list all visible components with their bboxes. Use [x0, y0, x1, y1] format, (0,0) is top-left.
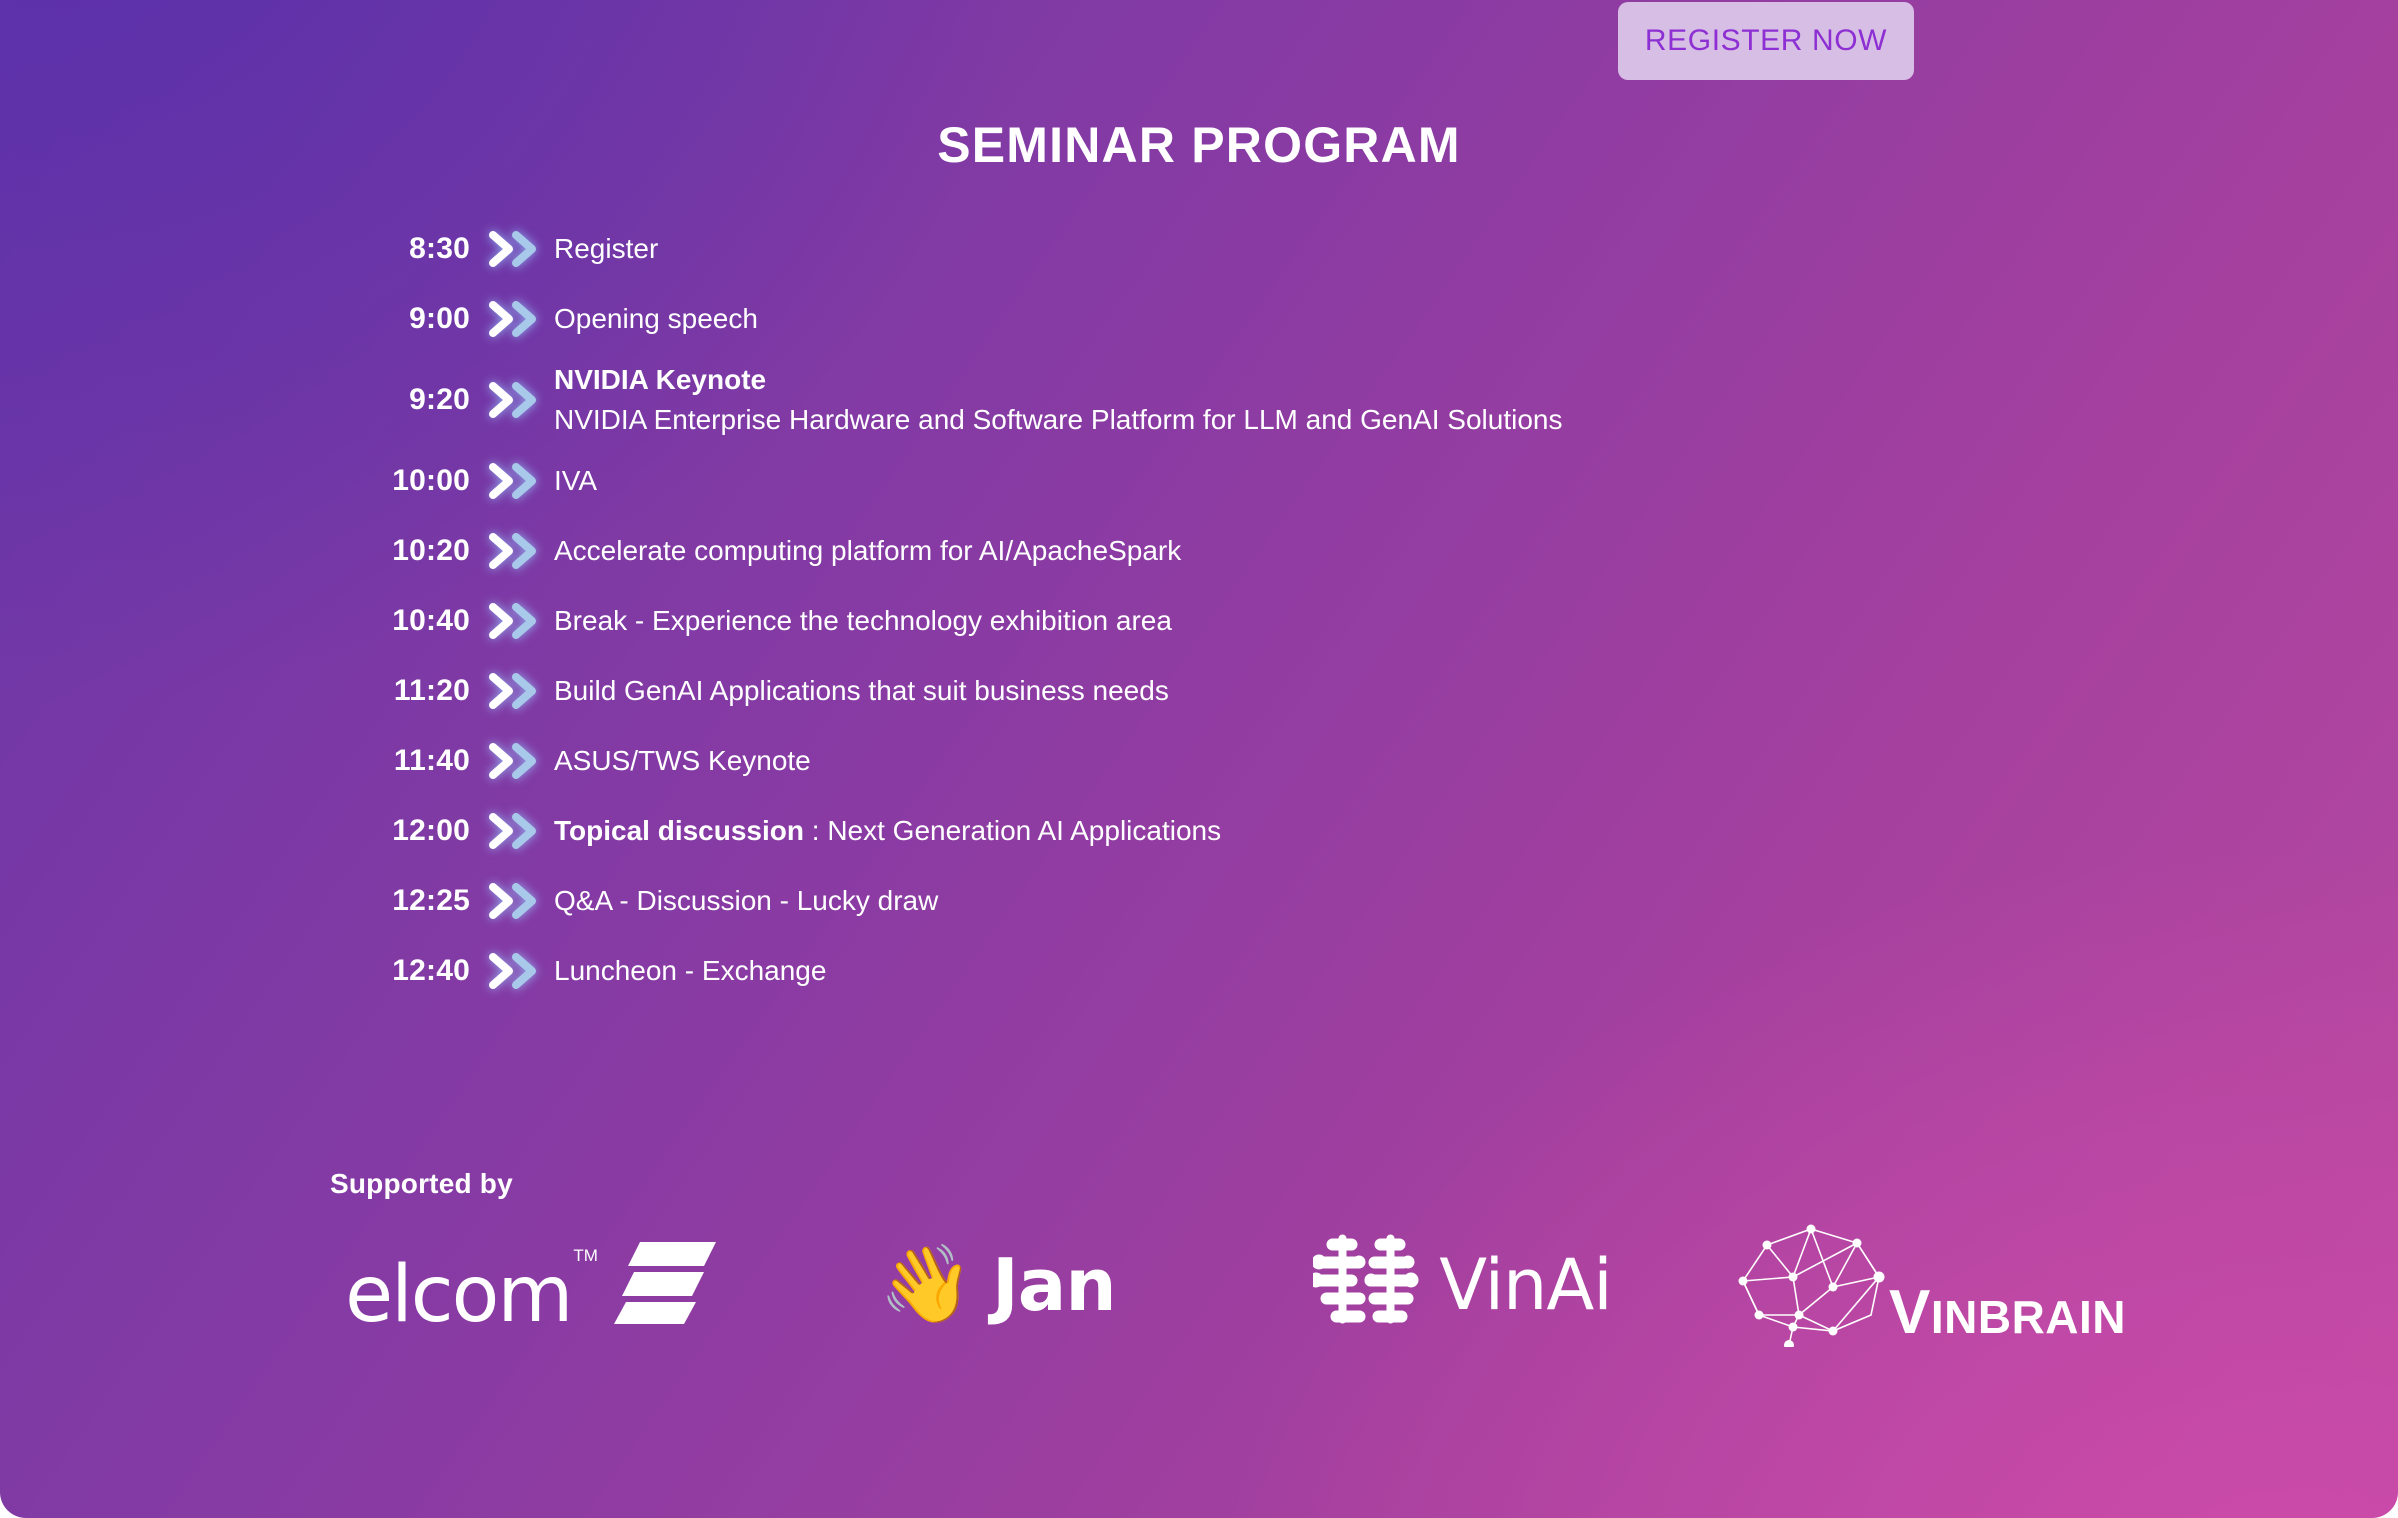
schedule-time: 10:20: [330, 534, 470, 568]
schedule-time: 10:00: [330, 464, 470, 498]
schedule-description: Q&A - Discussion - Lucky draw: [544, 881, 2030, 921]
brain-network-icon: [1729, 1219, 1899, 1352]
schedule-time: 12:40: [330, 954, 470, 988]
schedule-time: 8:30: [330, 232, 470, 266]
jan-wordmark: Jan: [992, 1243, 1116, 1327]
schedule-row: 9:20NVIDIA KeynoteNVIDIA Enterprise Hard…: [330, 354, 2030, 446]
schedule-description: Register: [544, 229, 2030, 269]
vinbrain-wordmark-rest: INBRAIN: [1931, 1291, 2126, 1343]
schedule-description: Topical discussion : Next Generation AI …: [544, 811, 2030, 851]
double-chevron-right-icon: [470, 673, 544, 709]
sponsor-logo-vinbrain: VINBRAIN: [1695, 1210, 2160, 1360]
sponsor-logos: elcom TM 👋 Jan: [300, 1210, 2160, 1360]
schedule-time: 12:25: [330, 884, 470, 918]
double-chevron-right-icon: [470, 603, 544, 639]
sponsor-logo-vinai: VinAi: [1230, 1210, 1695, 1360]
double-chevron-right-icon: [470, 533, 544, 569]
schedule-time: 9:20: [330, 383, 470, 417]
schedule-description: Accelerate computing platform for AI/Apa…: [544, 531, 2030, 571]
supported-by-label: Supported by: [330, 1168, 513, 1200]
schedule-time: 9:00: [330, 302, 470, 336]
schedule-row: 9:00Opening speech: [330, 284, 2030, 354]
vinbrain-wordmark: VINBRAIN: [1889, 1277, 2126, 1348]
double-chevron-right-icon: [470, 743, 544, 779]
schedule-row: 12:25Q&A - Discussion - Lucky draw: [330, 866, 2030, 936]
schedule-description: ASUS/TWS Keynote: [544, 741, 2030, 781]
page-title: SEMINAR PROGRAM: [0, 116, 2398, 174]
trademark-icon: TM: [573, 1246, 598, 1266]
vinbrain-wordmark-initial: V: [1889, 1278, 1931, 1347]
double-chevron-right-icon: [470, 463, 544, 499]
elcom-e-mark-icon: [612, 1238, 720, 1331]
register-now-button[interactable]: REGISTER NOW: [1618, 2, 1914, 80]
schedule-time: 11:20: [330, 674, 470, 708]
schedule-title-bold: NVIDIA Keynote: [554, 364, 766, 395]
seminar-program-slide: REGISTER NOW SEMINAR PROGRAM 8:30Registe…: [0, 0, 2398, 1518]
schedule-description: Break - Experience the technology exhibi…: [544, 601, 2030, 641]
double-chevron-right-icon: [470, 883, 544, 919]
sponsor-logo-jan: 👋 Jan: [765, 1210, 1230, 1360]
schedule-description: Luncheon - Exchange: [544, 951, 2030, 991]
schedule-description: NVIDIA KeynoteNVIDIA Enterprise Hardware…: [544, 360, 2030, 440]
waving-hand-icon: 👋: [879, 1247, 974, 1323]
schedule-subtitle: NVIDIA Enterprise Hardware and Software …: [554, 400, 2030, 440]
schedule-title-rest: : Next Generation AI Applications: [804, 815, 1221, 846]
sponsor-logo-elcom: elcom TM: [300, 1210, 765, 1360]
schedule-description: IVA: [544, 461, 2030, 501]
schedule-time: 10:40: [330, 604, 470, 638]
schedule-row: 10:20Accelerate computing platform for A…: [330, 516, 2030, 586]
schedule-row: 12:40Luncheon - Exchange: [330, 936, 2030, 1006]
schedule-time: 11:40: [330, 744, 470, 778]
schedule-description: Build GenAI Applications that suit busin…: [544, 671, 2030, 711]
double-chevron-right-icon: [470, 231, 544, 267]
vinai-network-mark-icon: [1313, 1231, 1421, 1340]
double-chevron-right-icon: [470, 953, 544, 989]
schedule-row: 10:00IVA: [330, 446, 2030, 516]
schedule-description: Opening speech: [544, 299, 2030, 339]
double-chevron-right-icon: [470, 813, 544, 849]
elcom-wordmark: elcom: [345, 1258, 571, 1332]
schedule-time: 12:00: [330, 814, 470, 848]
schedule-title-bold: Topical discussion: [554, 815, 804, 846]
schedule-row: 10:40Break - Experience the technology e…: [330, 586, 2030, 656]
schedule-row: 12:00Topical discussion : Next Generatio…: [330, 796, 2030, 866]
schedule-row: 11:20Build GenAI Applications that suit …: [330, 656, 2030, 726]
vinai-wordmark: VinAi: [1439, 1244, 1612, 1326]
double-chevron-right-icon: [470, 301, 544, 337]
schedule-row: 11:40ASUS/TWS Keynote: [330, 726, 2030, 796]
double-chevron-right-icon: [470, 382, 544, 418]
schedule-list: 8:30Register9:00Opening speech9:20NVIDIA…: [330, 214, 2030, 1006]
schedule-row: 8:30Register: [330, 214, 2030, 284]
